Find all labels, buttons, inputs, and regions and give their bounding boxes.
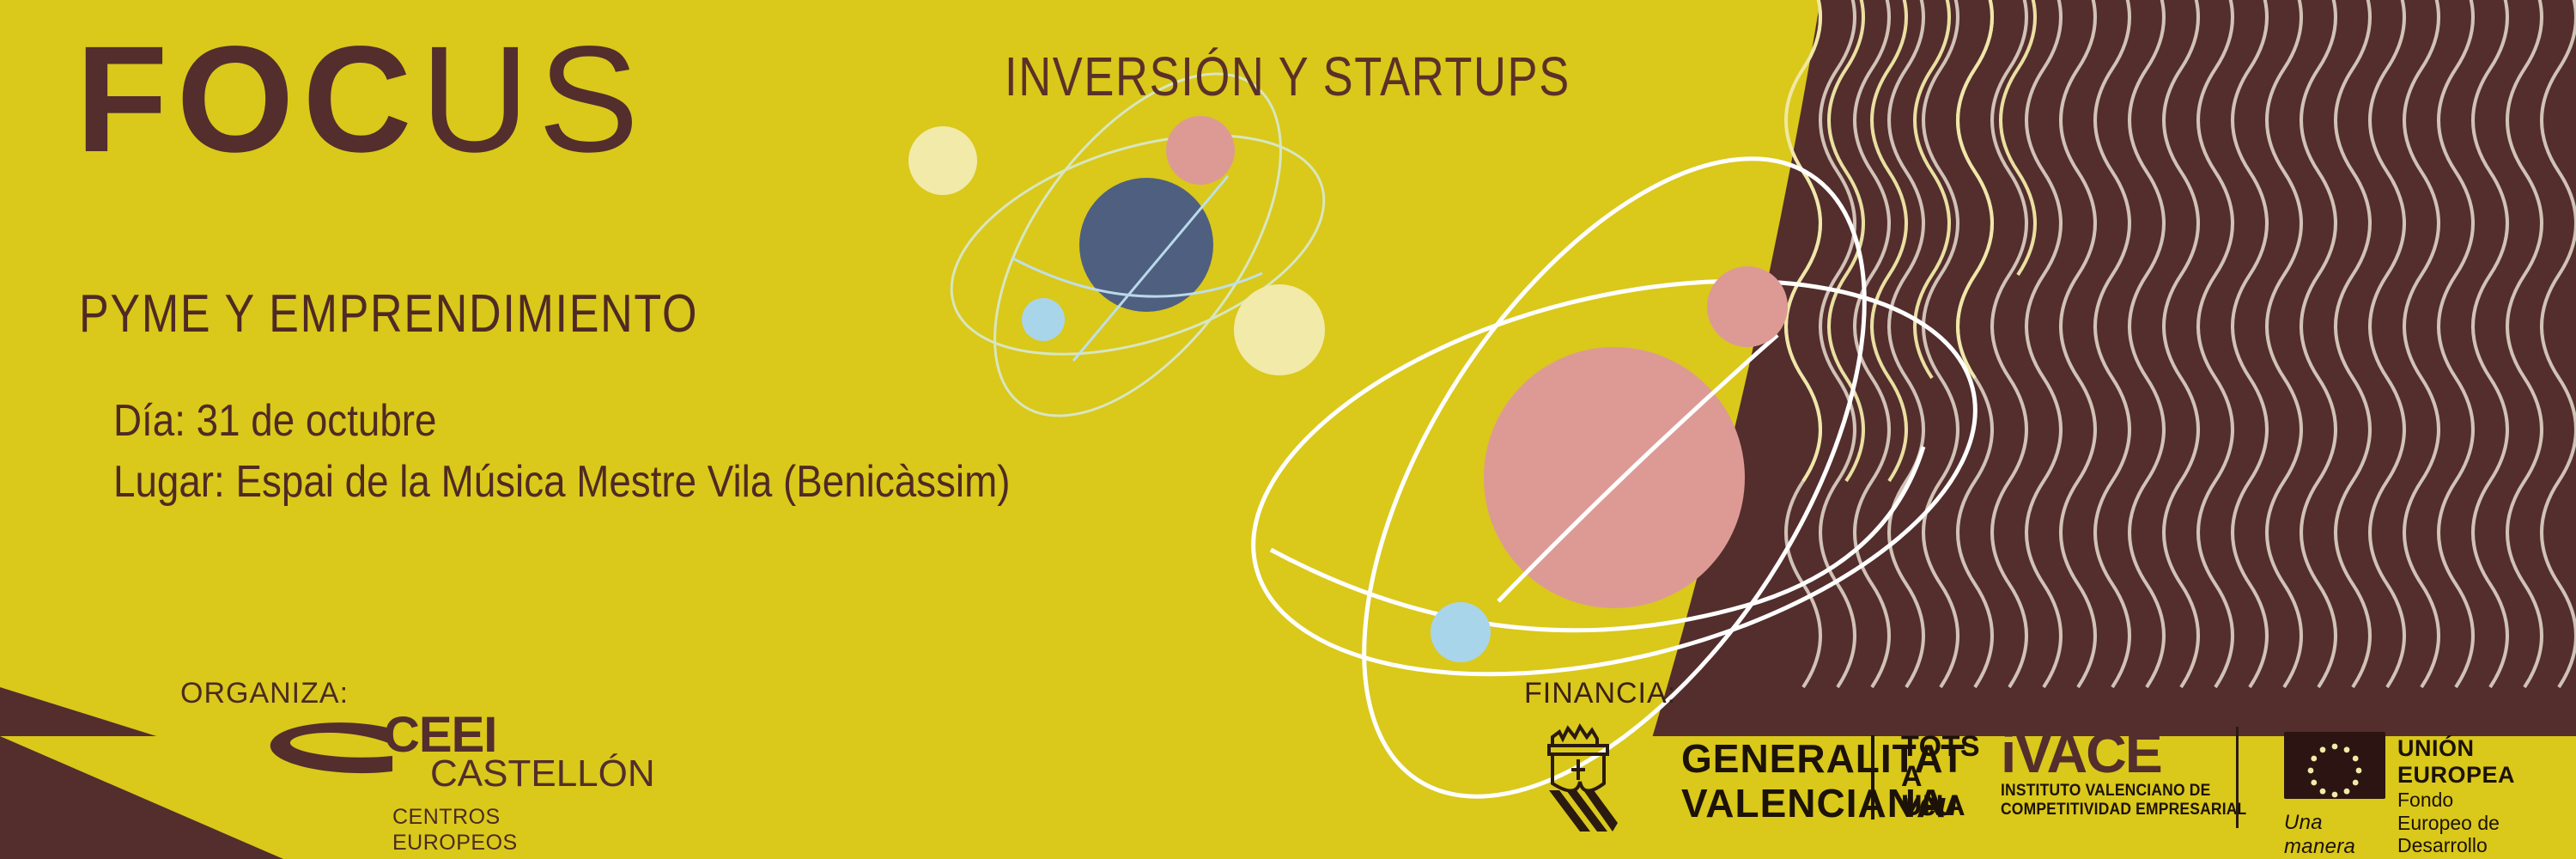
page-title-light: US [421, 15, 648, 184]
generalitat-coat-of-arms-icon [1525, 718, 1662, 838]
pink-moon-upper [1707, 266, 1788, 347]
blue-moon-lower [1431, 602, 1491, 662]
eu-slogan: Una manera de hacer Europa [2284, 811, 2355, 859]
ivace-subtitle-line2: COMPETITIVIDAD EMPRESARIAL [2001, 801, 2246, 819]
page-title-bold: FOC [76, 15, 421, 184]
financia-label: FINANCIA: [1524, 677, 1676, 710]
eu-stars-icon [2284, 732, 2385, 799]
eu-line3: Desarrollo Regional [2397, 834, 2515, 859]
ivace-logo: iVACE INSTITUTO VALENCIANO DE COMPETITIV… [2001, 726, 2268, 819]
pink-moon-small [1166, 116, 1235, 185]
slogan-line1: TOTS [1901, 732, 1980, 762]
blue-moon-small [1022, 298, 1065, 341]
ceei-city: CASTELLÓN [430, 752, 655, 795]
eu-wordmark: UNIÓN EUROPEA Fondo Europeo de Desarroll… [2397, 735, 2515, 859]
cream-moon-center [1234, 284, 1325, 375]
logo-divider [1871, 735, 1874, 819]
ceei-castellon-logo: CEEI CASTELLÓN CENTROS EUROPEOS DE EMPRE… [262, 711, 554, 840]
cream-moon-left [908, 126, 977, 195]
event-details: Día: 31 de octubre Lugar: Espai de la Mú… [113, 391, 1010, 513]
eu-line1: UNIÓN EUROPEA [2397, 735, 2515, 789]
event-place: Lugar: Espai de la Música Mestre Vila (B… [113, 452, 1010, 513]
ceei-tagline: CENTROS EUROPEOS DE EMPRESAS INNOVADORAS [392, 804, 554, 859]
ivace-wordmark: iVACE [2001, 726, 2268, 780]
logo-divider-right [2236, 727, 2239, 828]
ivace-subtitle: INSTITUTO VALENCIANO DE COMPETITIVIDAD E… [2001, 782, 2246, 819]
kicker-text: INVERSIÓN Y STARTUPS [1005, 45, 1571, 108]
slogan-line3: veu [1901, 787, 1957, 824]
eu-flag-icon [2284, 732, 2385, 799]
organiza-label: ORGANIZA: [180, 677, 349, 710]
pink-planet-large [1484, 347, 1745, 608]
page-title: FOCUS [76, 24, 647, 175]
event-date: Día: 31 de octubre [113, 391, 1010, 452]
subtitle-text: PYME Y EMPRENDIMIENTO [79, 283, 698, 344]
ceei-tagline-line1: CENTROS EUROPEOS DE [392, 804, 554, 859]
eu-line2: Fondo Europeo de [2397, 789, 2515, 834]
ivace-subtitle-line1: INSTITUTO VALENCIANO DE [2001, 782, 2246, 801]
event-banner: FOCUS INVERSIÓN Y STARTUPS PYME Y EMPREN… [0, 0, 2576, 859]
